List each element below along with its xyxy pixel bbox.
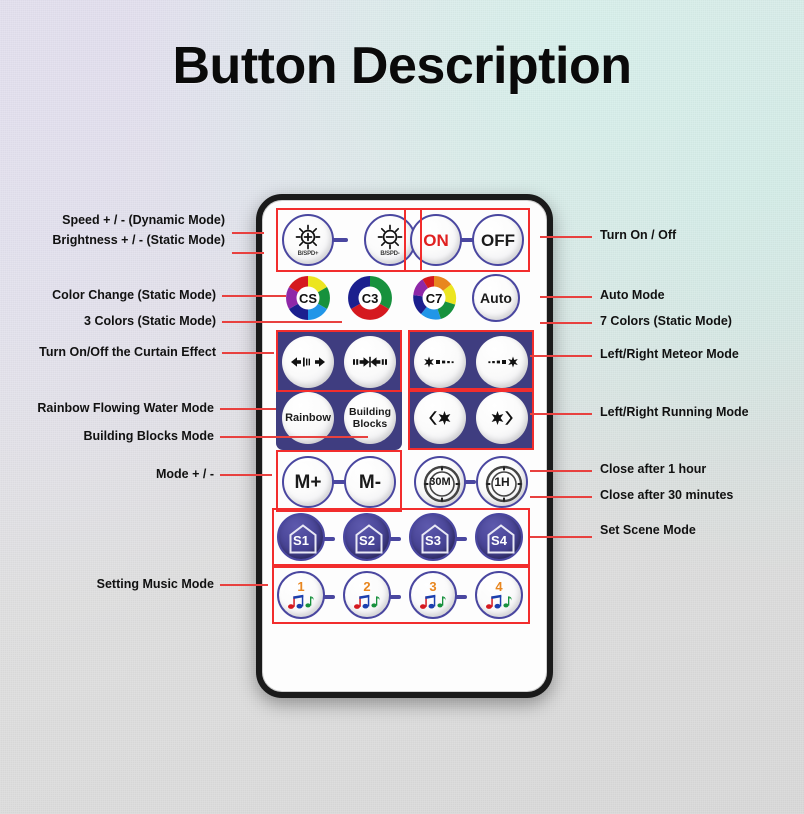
leader-line-three-colors: [222, 321, 342, 323]
callout-close-1h: Close after 1 hour: [600, 462, 706, 476]
callout-meteor: Left/Right Meteor Mode: [600, 347, 739, 361]
leader-line-close-30m: [530, 496, 592, 498]
callout-music: Setting Music Mode: [6, 577, 214, 591]
callout-seven-colors: 7 Colors (Static Mode): [600, 314, 732, 328]
callout-running: Left/Right Running Mode: [600, 405, 749, 419]
page-title: Button Description: [0, 36, 804, 96]
callout-scene: Set Scene Mode: [600, 523, 696, 537]
seven-colors-label: C7: [421, 285, 447, 311]
annotation-box-meteor: [408, 330, 534, 392]
rainbow-mode-label: Rainbow: [285, 413, 331, 424]
remote-button-panel: B/SPD+ B/SPD- ON OFF: [262, 200, 547, 692]
leader-line-auto-mode: [540, 296, 592, 298]
leader-line-running: [530, 413, 592, 415]
seven-colors-button[interactable]: C7: [410, 274, 458, 322]
leader-line-speed: [232, 232, 264, 234]
three-colors-label: C3: [357, 285, 383, 311]
callout-three-colors: 3 Colors (Static Mode): [10, 314, 216, 328]
remote-control-body: B/SPD+ B/SPD- ON OFF: [256, 194, 553, 698]
annotation-box-speed-brightness: [276, 208, 422, 272]
leader-line-curtain: [222, 352, 274, 354]
building-blocks-label-line2: Blocks: [353, 419, 387, 430]
leader-line-seven-colors: [540, 322, 592, 324]
callout-speed: Speed + / - (Dynamic Mode): [10, 213, 225, 227]
leader-line-close-1h: [530, 470, 592, 472]
timer-1h-label: 1H: [494, 476, 509, 488]
leader-line-brightness: [232, 252, 264, 254]
timer-1h-button[interactable]: 1H: [476, 456, 528, 508]
leader-line-music: [220, 584, 268, 586]
auto-mode-button[interactable]: Auto: [472, 274, 520, 322]
leader-line-turn-on-off: [540, 236, 592, 238]
color-change-label: CS: [295, 285, 321, 311]
timer-30m-button[interactable]: 30M: [414, 456, 466, 508]
leader-line-mode: [220, 474, 272, 476]
callout-blocks: Building Blocks Mode: [6, 429, 214, 443]
annotation-box-curtain: [276, 330, 402, 392]
three-colors-button[interactable]: C3: [346, 274, 394, 322]
leader-line-blocks: [220, 436, 368, 438]
annotation-box-scene: [272, 508, 530, 566]
callout-auto-mode: Auto Mode: [600, 288, 665, 302]
annotation-box-music: [272, 566, 530, 624]
callout-curtain: Turn On/Off the Curtain Effect: [6, 345, 216, 359]
callout-close-30m: Close after 30 minutes: [600, 488, 733, 502]
annotation-box-running: [408, 388, 534, 450]
leader-line-scene: [530, 536, 592, 538]
building-blocks-label-line1: Building: [349, 407, 391, 418]
timer-30m-label: 30M: [429, 477, 450, 488]
callout-rainbow: Rainbow Flowing Water Mode: [6, 401, 214, 415]
callout-mode: Mode + / -: [6, 467, 214, 481]
color-change-button[interactable]: CS: [284, 274, 332, 322]
leader-line-meteor: [530, 355, 592, 357]
leader-line-color-change: [222, 295, 286, 297]
auto-mode-label: Auto: [480, 291, 512, 305]
leader-line-rainbow: [220, 408, 276, 410]
annotation-box-power: [404, 208, 530, 272]
callout-brightness: Brightness + / - (Static Mode): [10, 233, 225, 247]
callout-color-change: Color Change (Static Mode): [10, 288, 216, 302]
callout-turn-on-off: Turn On / Off: [600, 228, 676, 242]
annotation-box-mode: [276, 450, 402, 512]
